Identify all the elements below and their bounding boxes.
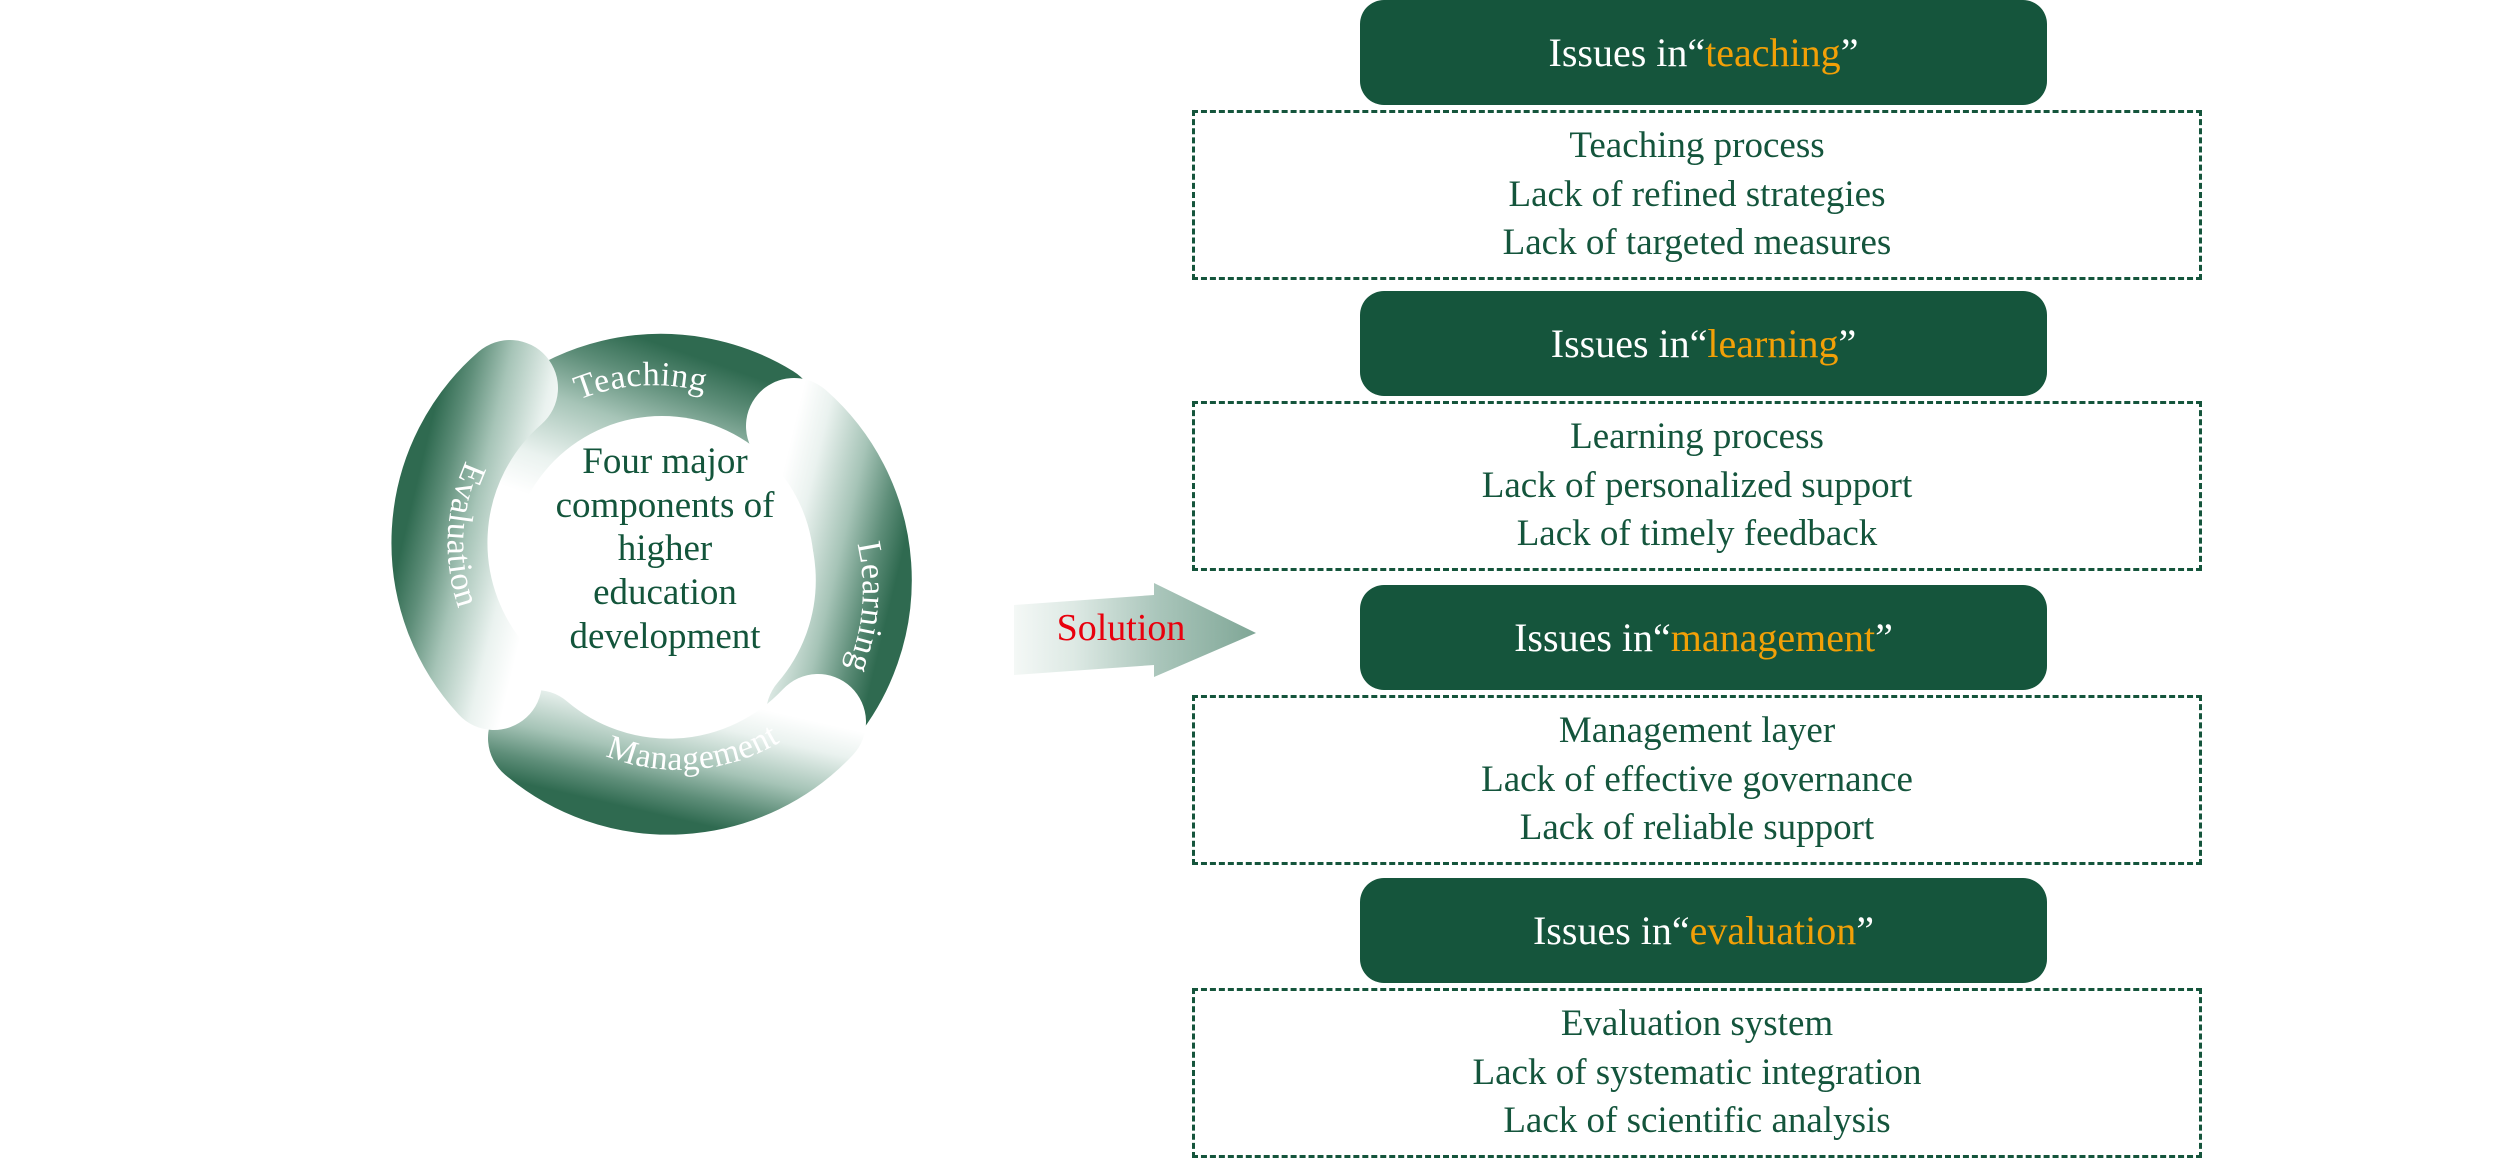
issue-line: Lack of targeted measures	[1503, 219, 1892, 268]
issue-line: Lack of reliable support	[1520, 804, 1874, 853]
issue-line: Lack of scientific analysis	[1503, 1097, 1890, 1146]
issue-header-prefix: Issues in	[1514, 618, 1653, 658]
quote-close: ”	[1838, 324, 1856, 364]
issue-header-keyword: evaluation	[1690, 911, 1857, 951]
quote-close: ”	[1875, 618, 1893, 658]
issue-line: Learning process	[1570, 413, 1824, 462]
quote-close: ”	[1841, 33, 1859, 73]
issue-line: Management layer	[1559, 707, 1835, 756]
issue-line: Teaching process	[1569, 122, 1824, 171]
issue-body-learning: Learning process Lack of personalized su…	[1192, 401, 2202, 571]
issue-line: Lack of timely feedback	[1517, 510, 1878, 559]
issue-header-management[interactable]: Issues in “management”	[1360, 585, 2047, 690]
issue-header-keyword: teaching	[1705, 33, 1841, 73]
issue-header-teaching[interactable]: Issues in “teaching”	[1360, 0, 2047, 105]
issue-line: Lack of systematic integration	[1473, 1049, 1922, 1098]
issue-header-prefix: Issues in	[1551, 324, 1690, 364]
issue-body-teaching: Teaching process Lack of refined strateg…	[1192, 110, 2202, 280]
issue-header-prefix: Issues in	[1533, 911, 1672, 951]
quote-open: “	[1672, 911, 1690, 951]
issue-line: Evaluation system	[1561, 1000, 1833, 1049]
issue-header-prefix: Issues in	[1549, 33, 1688, 73]
issue-header-evaluation[interactable]: Issues in “evaluation”	[1360, 878, 2047, 983]
quote-open: “	[1687, 33, 1705, 73]
issue-body-evaluation: Evaluation system Lack of systematic int…	[1192, 988, 2202, 1158]
issue-line: Lack of effective governance	[1481, 756, 1913, 805]
issue-header-learning[interactable]: Issues in “learning”	[1360, 291, 2047, 396]
issue-line: Lack of refined strategies	[1508, 171, 1885, 220]
issue-header-keyword: learning	[1707, 324, 1838, 364]
diagram-canvas: Teaching Learning Management	[0, 0, 2520, 1161]
issues-column: Issues in “teaching” Teaching process La…	[0, 0, 2520, 1161]
issue-line: Lack of personalized support	[1482, 462, 1913, 511]
quote-close: ”	[1856, 911, 1874, 951]
quote-open: “	[1653, 618, 1671, 658]
issue-header-keyword: management	[1671, 618, 1875, 658]
quote-open: “	[1690, 324, 1708, 364]
issue-body-management: Management layer Lack of effective gover…	[1192, 695, 2202, 865]
